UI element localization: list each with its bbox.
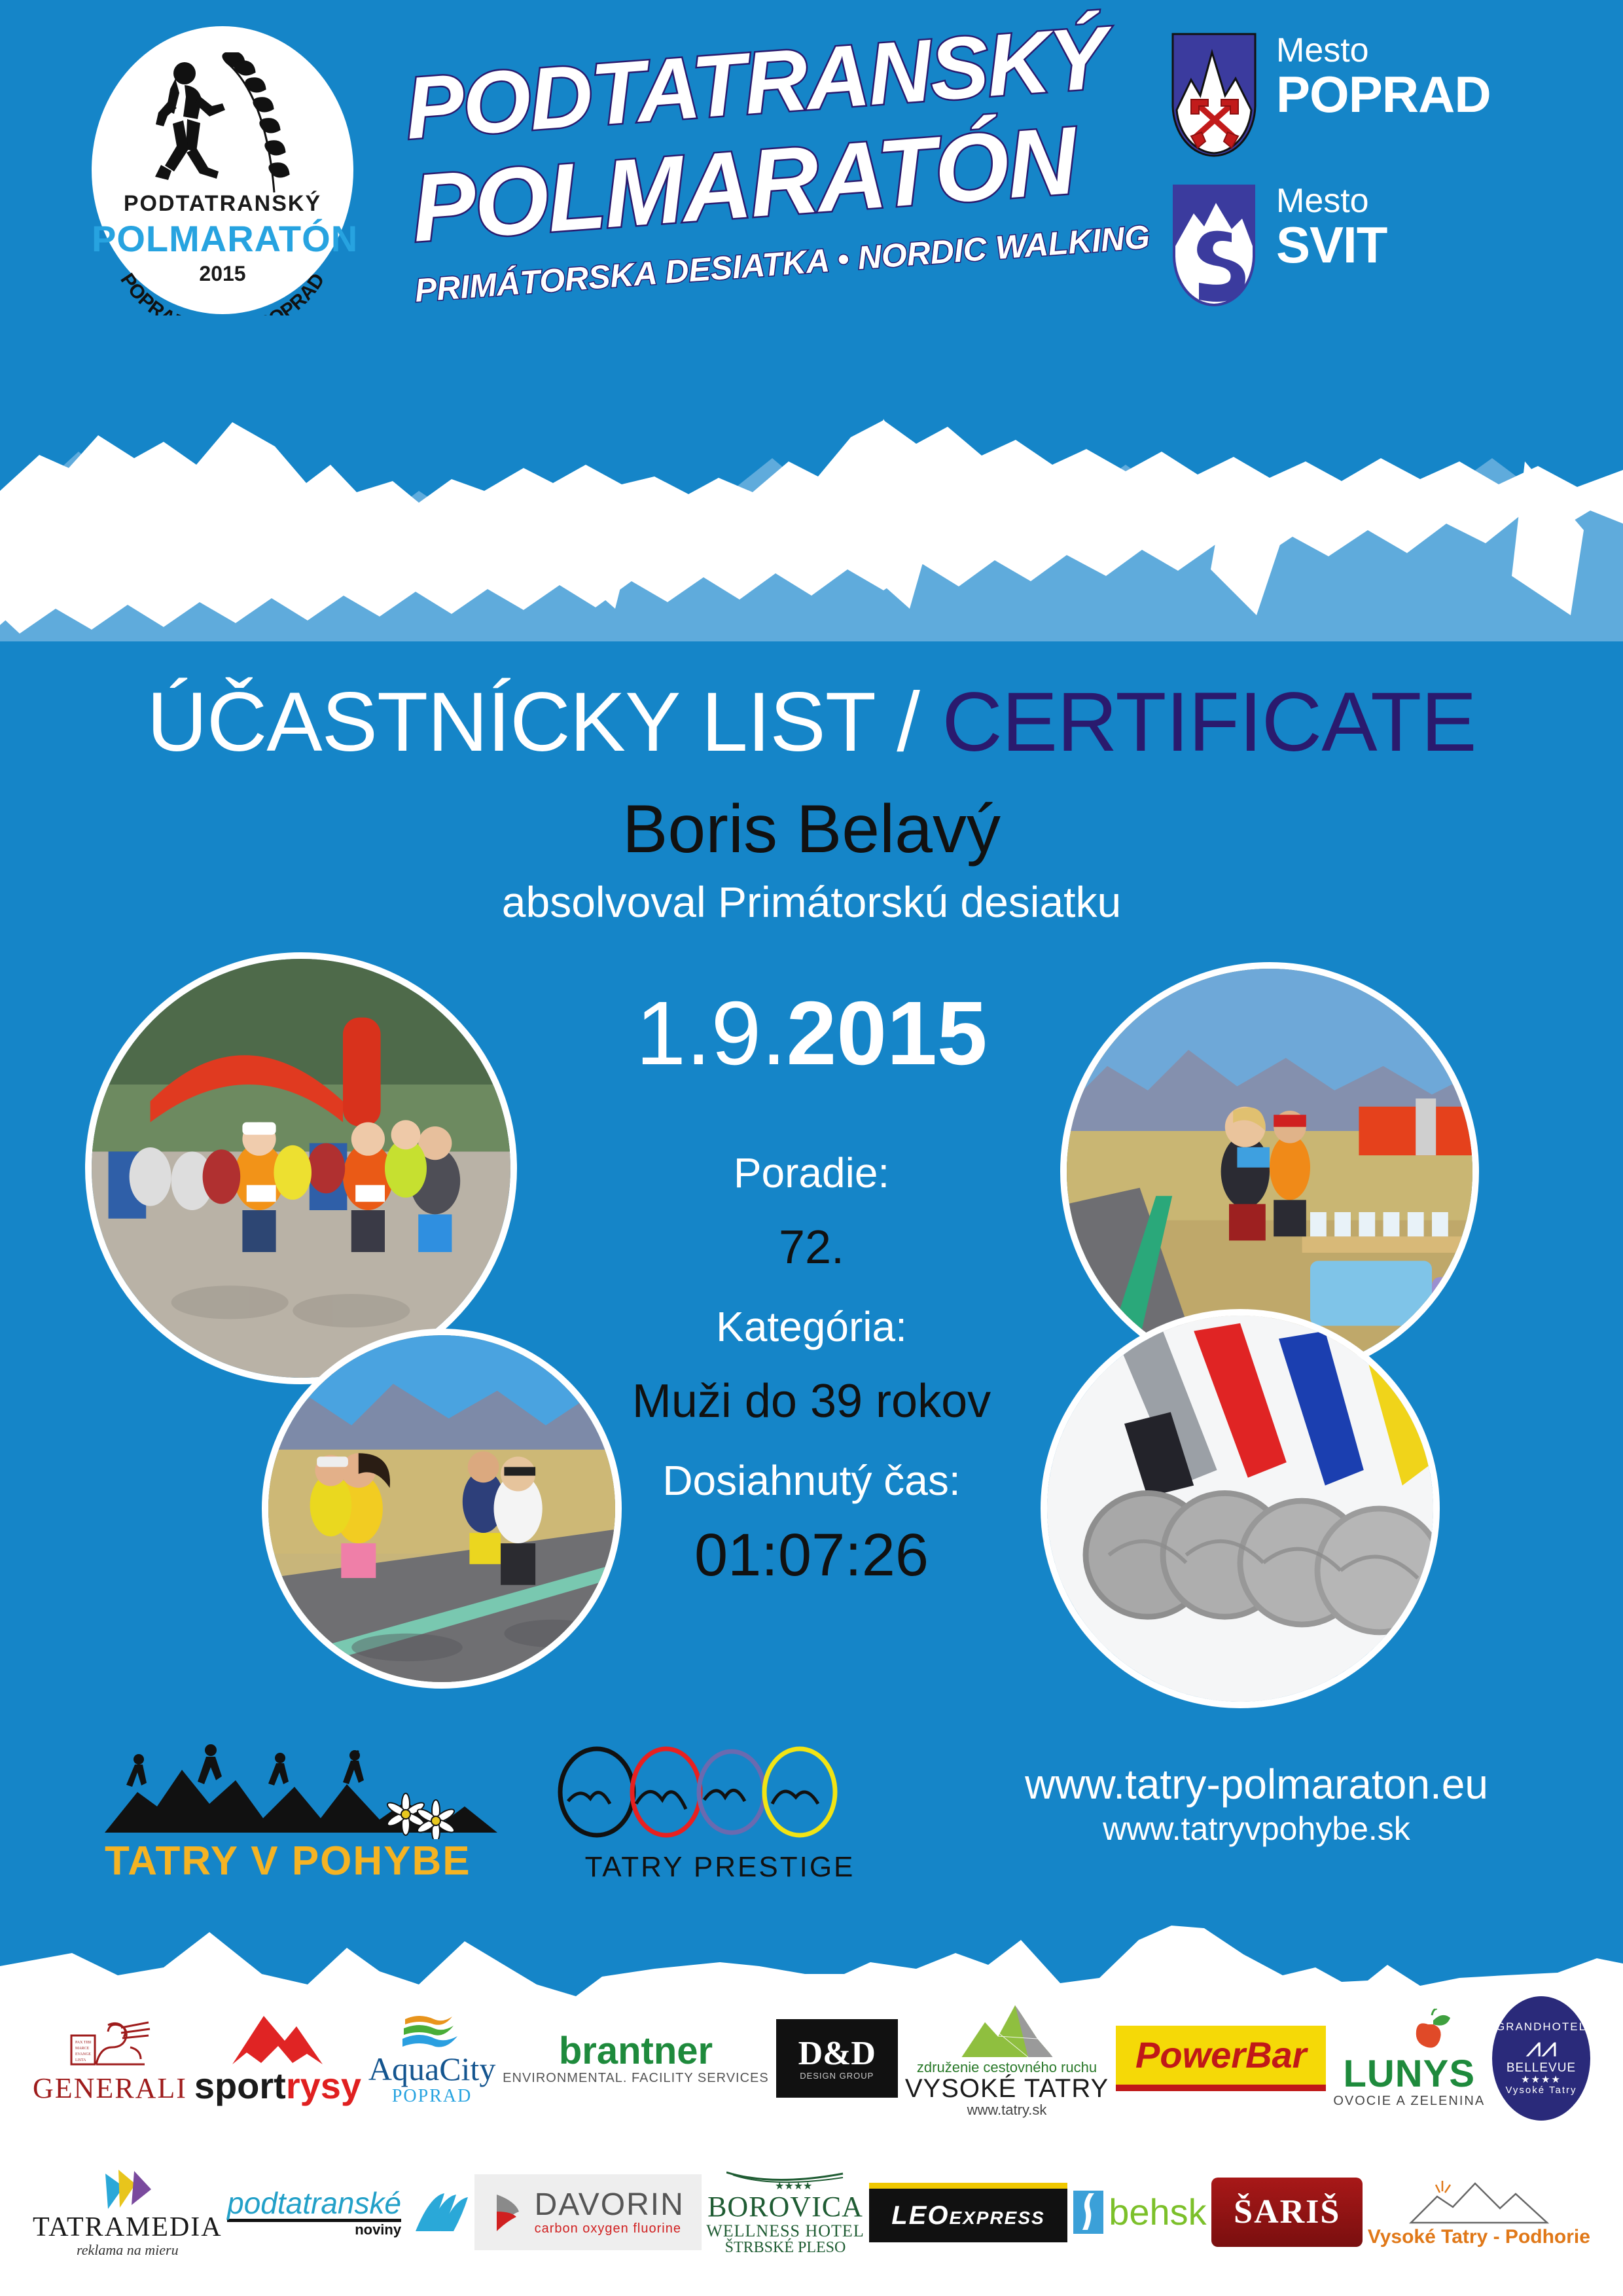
lunys-apple-icon — [1360, 2009, 1458, 2054]
crest-poprad-prefix: Mesto — [1276, 33, 1491, 69]
tatry-v-pohybe-label: TATRY V POHYBE — [105, 1838, 471, 1884]
certificate-title-sep: / — [874, 675, 942, 769]
svit-coat-of-arms-icon — [1171, 183, 1257, 308]
prestige-rings-icon — [550, 1741, 890, 1852]
event-date-year: 2015 — [787, 983, 988, 1084]
certificate-page: PODTATRANSKÝ POLMARATÓN 2015 POPRAD - SV… — [0, 0, 1623, 2296]
svg-text:LISTA: LISTA — [75, 2058, 86, 2062]
sponsor-podtatranske-label: podtatranské — [227, 2187, 401, 2222]
borovica-branch-icon: ★★★★ — [726, 2168, 844, 2192]
sponsor-dd-label: D&D — [798, 2036, 876, 2072]
sponsor-saris: ŠARIŠ — [1211, 2178, 1363, 2248]
crest-svit-city: SVIT — [1276, 219, 1387, 270]
podtatranske-fan-icon — [410, 2188, 469, 2236]
runners-on-field-road-photo — [262, 1329, 622, 1689]
aquacity-waves-icon — [396, 2011, 468, 2052]
sponsor-leo-express-label: LEOEXPRESS — [891, 2202, 1045, 2229]
grandhotel-peaks-icon: ⩘⩘ — [1525, 2033, 1556, 2062]
sponsor-davorin-sub: carbon oxygen fluorine — [535, 2222, 681, 2236]
event-emblem: PODTATRANSKÝ POLMARATÓN 2015 POPRAD - SV… — [92, 26, 353, 314]
grandhotel-sub: Vysoké Tatry — [1505, 2085, 1577, 2096]
sponsor-borovica: ★★★★ BOROVICA WELLNESS HOTEL ŠTRBSKÉ PLE… — [706, 2168, 864, 2257]
sponsor-lunys-sub: OVOCIE A ZELENINA — [1333, 2094, 1485, 2108]
sponsor-brantner-label: brantner — [559, 2032, 713, 2072]
tatry-v-pohybe-logo: TATRY V POHYBE — [98, 1741, 504, 1892]
sponsor-powerbar-label: PowerBar — [1135, 2036, 1306, 2075]
svg-text:PAX TIBI: PAX TIBI — [75, 2041, 92, 2045]
rank-label: Poradie: — [497, 1152, 1126, 1194]
sponsor-grandhotel-bellevue: GRANDHOTEL ⩘⩘ BELLEVUE ★★★★ Vysoké Tatry — [1492, 1996, 1590, 2121]
tatry-prestige-tour-logo: TATRY PRESTIGE TOUR — [550, 1741, 890, 1892]
start-line-runners-photo — [85, 952, 517, 1384]
podhorie-peaks-icon — [1407, 2177, 1551, 2227]
sponsor-borovica-sub: WELLNESS HOTEL — [706, 2222, 864, 2240]
sponsor-aquacity-sub: POPRAD — [392, 2087, 472, 2106]
generali-lion-icon: PAX TIBIMARCE EVANGELISTA — [67, 2013, 152, 2071]
sponsor-vysoke-tatry: združenie cestovného ruchu VYSOKÉ TATRY … — [905, 2000, 1109, 2117]
sponsor-borovica-label: BOROVICA — [707, 2192, 863, 2222]
poprad-coat-of-arms-icon — [1171, 33, 1257, 157]
sponsor-dd: D&D DESIGN GROUP — [776, 2019, 898, 2098]
certificate-title-en: CERTIFICATE — [942, 675, 1476, 769]
certificate-title-sk: ÚČASTNÍCKY LIST — [147, 675, 874, 769]
svg-text:MARCE: MARCE — [75, 2047, 90, 2051]
sponsor-brantner-sub: ENVIRONMENTAL. FACILITY SERVICES — [503, 2072, 769, 2085]
url-primary[interactable]: www.tatry-polmaraton.eu — [929, 1761, 1584, 1809]
category-label: Kategória: — [497, 1306, 1126, 1348]
emblem-line2: POLMARATÓN — [92, 217, 353, 260]
sponsor-podtatranske-noviny: podtatranské noviny — [227, 2187, 469, 2237]
website-links: www.tatry-polmaraton.eu www.tatryvpohybe… — [929, 1761, 1584, 1848]
crest-poprad-city: POPRAD — [1276, 69, 1491, 120]
sponsor-tatramedia: TATRAMEDIA reklama na mieru — [33, 2167, 223, 2257]
sponsor-row-1: PAX TIBIMARCE EVANGELISTA GENERALI sport… — [33, 1990, 1590, 2127]
crest-poprad-text: Mesto POPRAD — [1276, 33, 1491, 120]
crest-svit-text: Mesto SVIT — [1276, 183, 1387, 270]
sponsor-leo-express: LEOEXPRESS — [869, 2183, 1067, 2242]
sponsor-sportrysy: sportrysy — [194, 2012, 361, 2106]
vysoke-tatry-peaks-icon — [955, 2000, 1060, 2060]
tatry-mountains-icon — [98, 1741, 504, 1839]
emblem-route-arc: POPRAD - SVIT - POPRAD — [92, 257, 353, 315]
grandhotel-name: BELLEVUE — [1507, 2062, 1576, 2075]
sponsor-podtatranske-sub: noviny — [355, 2222, 401, 2237]
sponsor-aquacity: AquaCity POPRAD — [368, 2011, 495, 2106]
sponsor-behsk-label: behsk — [1109, 2193, 1206, 2232]
achievement-subline: absolvoval Primátorskú desiatku — [0, 880, 1623, 924]
mountain-silhouette-band — [0, 327, 1623, 641]
sponsor-brantner: brantner ENVIRONMENTAL. FACILITY SERVICE… — [503, 2032, 769, 2085]
davorin-mark-icon — [491, 2192, 524, 2233]
sponsor-aquacity-label: AquaCity — [368, 2052, 495, 2087]
sponsor-lunys-label: LUNYS — [1343, 2054, 1475, 2094]
behsk-runner-icon — [1072, 2189, 1105, 2235]
event-date-day-month: 1.9. — [635, 983, 786, 1084]
finisher-medals-photo — [1041, 1309, 1440, 1708]
sponsor-vysoke-tatry-web: www.tatry.sk — [967, 2102, 1047, 2117]
sponsor-generali: PAX TIBIMARCE EVANGELISTA GENERALI — [33, 2013, 187, 2104]
event-date: 1.9.2015 — [497, 988, 1126, 1079]
sponsor-tatramedia-sub: reklama na mieru — [77, 2242, 179, 2257]
sponsor-tatramedia-label: TATRAMEDIA — [33, 2213, 223, 2242]
sponsor-vysoke-tatry-podhorie-label: Vysoké Tatry - Podhorie — [1368, 2227, 1590, 2248]
sponsor-dd-sub: DESIGN GROUP — [800, 2072, 874, 2081]
sponsor-borovica-sub2: ŠTRBSKÉ PLESO — [725, 2240, 846, 2256]
sponsor-behsk: behsk — [1072, 2189, 1206, 2235]
svg-text:POPRAD - SVIT - POPRAD: POPRAD - SVIT - POPRAD — [116, 270, 329, 315]
certificate-title: ÚČASTNÍCKY LIST / CERTIFICATE — [0, 681, 1623, 764]
sponsor-sportrysy-label: sportrysy — [194, 2067, 361, 2106]
athlete-name: Boris Belavý — [0, 795, 1623, 863]
emblem-line1: PODTATRANSKÝ — [92, 191, 353, 217]
sponsor-vysoke-tatry-podhorie: Vysoké Tatry - Podhorie — [1368, 2177, 1590, 2248]
sponsor-powerbar: PowerBar — [1116, 2026, 1326, 2092]
sponsor-davorin-label: DAVORIN — [535, 2189, 685, 2221]
page-header: PODTATRANSKÝ POLMARATÓN 2015 POPRAD - SV… — [0, 0, 1623, 367]
sponsor-generali-label: GENERALI — [33, 2073, 187, 2104]
event-masthead: PODTATRANSKÝ POLMARATÓN PRIMÁTORSKA DESI… — [406, 39, 1126, 327]
laurel-wreath-icon — [213, 52, 304, 203]
url-secondary[interactable]: www.tatryvpohybe.sk — [929, 1809, 1584, 1848]
sponsor-row-2: TATRAMEDIA reklama na mieru podtatranské… — [33, 2147, 1590, 2278]
grandhotel-badge: GRANDHOTEL ⩘⩘ BELLEVUE ★★★★ Vysoké Tatry — [1492, 1996, 1590, 2121]
sponsor-lunys: LUNYS OVOCIE A ZELENINA — [1333, 2009, 1485, 2108]
sponsor-vysoke-tatry-sub: združenie cestovného ruchu — [917, 2060, 1097, 2075]
tatramedia-shards-icon — [88, 2167, 167, 2213]
grandhotel-stars: ★★★★ — [1521, 2075, 1561, 2085]
sponsor-davorin: DAVORIN carbon oxygen fluorine — [474, 2174, 702, 2250]
svg-text:EVANGE: EVANGE — [75, 2053, 91, 2056]
crest-svit-prefix: Mesto — [1276, 183, 1387, 219]
sponsor-vysoke-tatry-label: VYSOKÉ TATRY — [905, 2075, 1109, 2102]
rank-value: 72. — [497, 1224, 1126, 1271]
sportrysy-peak-icon — [215, 2012, 340, 2067]
sponsor-saris-label: ŠARIŠ — [1234, 2195, 1340, 2231]
